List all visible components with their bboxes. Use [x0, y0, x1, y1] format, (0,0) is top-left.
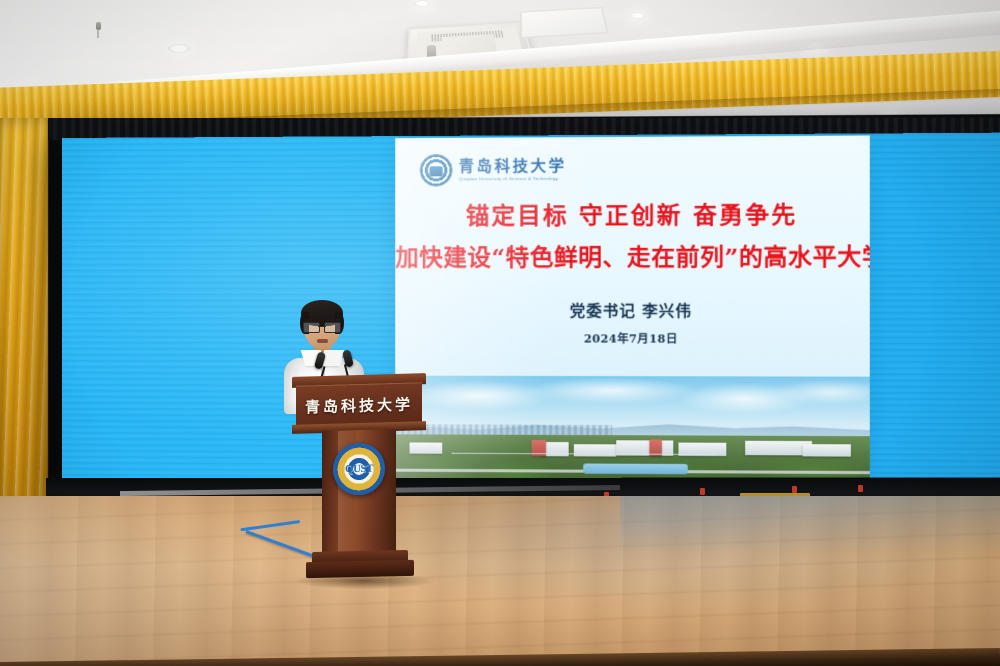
ceiling-access-panel — [520, 7, 609, 39]
floor-marker — [858, 485, 863, 492]
slide-headline-line-2: 加快建设“特色鲜明、走在前列”的高水平大学 — [395, 237, 870, 272]
slide-speaker-title: 党委书记 李兴伟 — [395, 300, 870, 322]
stage-floor-sheen — [0, 496, 1000, 666]
logo-wordmark: 青岛科技大学 Qingdao University of Science & T… — [459, 159, 567, 182]
podium-floor-shadow — [294, 573, 434, 589]
led-video-wall: 青岛科技大学 Qingdao University of Science & T… — [62, 133, 1000, 492]
slide-university-logo: 青岛科技大学 Qingdao University of Science & T… — [420, 153, 567, 186]
ceiling-downlight — [630, 12, 645, 19]
ceiling-downlight — [414, 0, 430, 7]
speaker-eyebrow-right — [326, 319, 340, 321]
eyeglass-bridge — [318, 326, 326, 327]
slide-headline: 锚定目标 守正创新 奋勇争先 加快建设“特色鲜明、走在前列”的高水平大学 — [395, 195, 870, 273]
speaker-eyebrow-left — [304, 319, 318, 321]
sprinkler-head — [96, 22, 101, 30]
eyeglass-lens-left — [303, 322, 320, 333]
slide-subtitle-block: 党委书记 李兴伟 2024年7月18日 — [395, 300, 870, 347]
floor-marker — [792, 486, 797, 493]
photo-lake — [583, 464, 687, 474]
speaker-mouth — [317, 339, 328, 343]
speaker-podium: 青岛科技大学 QUST — [292, 375, 426, 580]
photo-clouds — [395, 378, 870, 424]
university-seal-icon — [420, 154, 453, 187]
ceiling-downlight — [168, 44, 190, 53]
presentation-slide: 青岛科技大学 Qingdao University of Science & T… — [395, 135, 870, 484]
photo-building — [802, 444, 850, 456]
podium-seal-text: QUST — [345, 463, 373, 475]
floor-marker — [700, 488, 705, 495]
slide-campus-photo — [395, 376, 870, 485]
podium-nameplate-text: 青岛科技大学 — [305, 393, 413, 417]
logo-name-en: Qingdao University of Science & Technolo… — [459, 176, 567, 181]
logo-name-cn: 青岛科技大学 — [459, 159, 567, 175]
slide-headline-line-1: 锚定目标 守正创新 奋勇争先 — [395, 195, 870, 231]
conference-hall-scene: 青岛科技大学 Qingdao University of Science & T… — [0, 0, 1000, 666]
slide-date: 2024年7月18日 — [395, 330, 870, 347]
eyeglasses-icon — [303, 322, 341, 331]
eyeglass-lens-right — [324, 322, 341, 333]
